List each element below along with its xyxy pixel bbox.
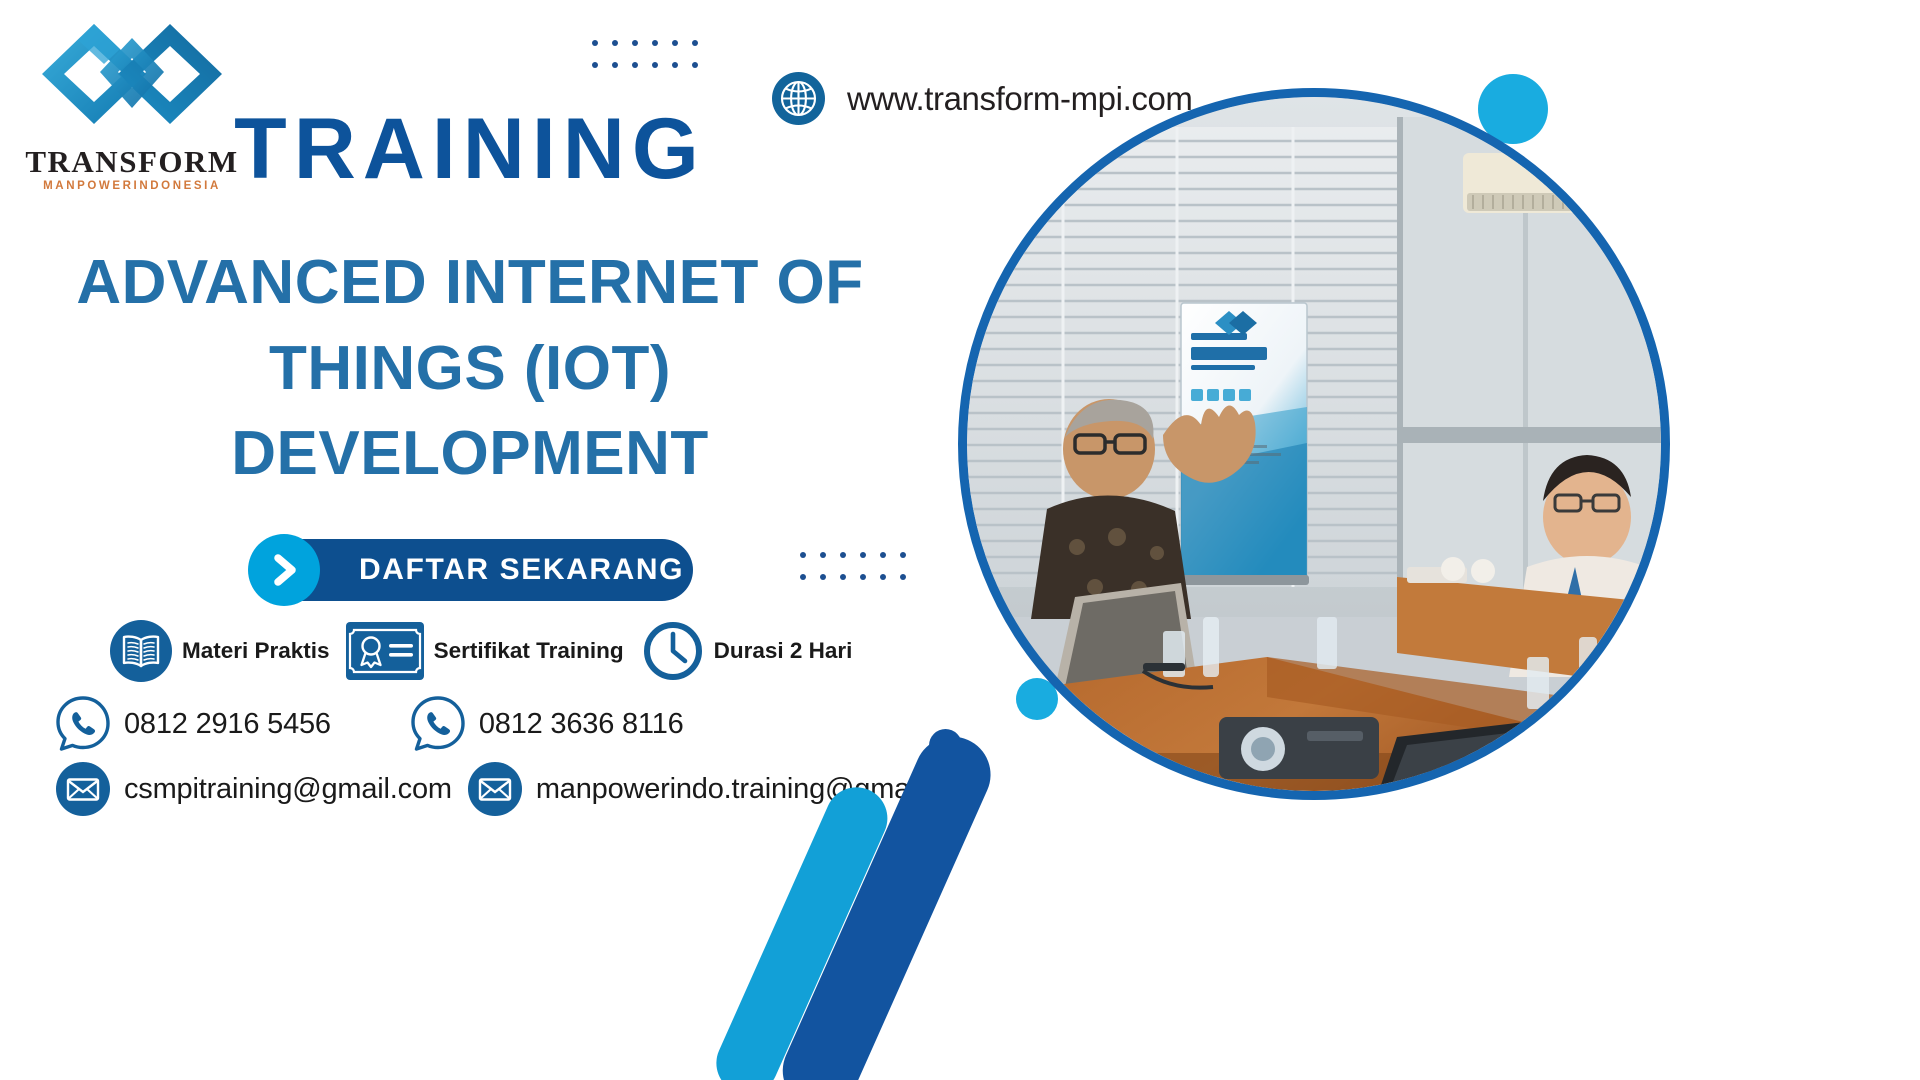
decorative-dot xyxy=(860,574,866,580)
course-title-heading: ADVANCED INTERNET OF THINGS (IOT) DEVELO… xyxy=(50,240,890,497)
decorative-dot xyxy=(672,40,678,46)
features-row: Materi Praktis Sertifikat Training Duras… xyxy=(110,620,852,682)
decorative-dot-grid-top xyxy=(592,40,702,80)
clock-icon xyxy=(642,620,704,682)
decorative-dot-grid-middle xyxy=(800,552,910,592)
decorative-dot xyxy=(692,62,698,68)
decorative-dot xyxy=(900,552,906,558)
phone-number: 0812 2916 5456 xyxy=(124,708,331,741)
feature-label: Durasi 2 Hari xyxy=(714,638,853,664)
decorative-navy-dot-small xyxy=(929,729,962,762)
training-session-photo xyxy=(958,88,1670,800)
decorative-dot xyxy=(820,574,826,580)
whatsapp-phone-icon xyxy=(409,695,467,753)
feature-label: Materi Praktis xyxy=(182,638,330,664)
decorative-dot xyxy=(820,552,826,558)
photo-inner xyxy=(967,97,1661,791)
training-kicker-heading: TRAINING xyxy=(0,106,940,192)
chevron-right-icon xyxy=(248,534,320,606)
decorative-dot xyxy=(592,40,598,46)
open-book-icon xyxy=(110,620,172,682)
phone-number: 0812 3636 8116 xyxy=(479,708,684,741)
decorative-dot xyxy=(880,552,886,558)
cta-label: DAFTAR SEKARANG xyxy=(359,553,684,587)
feature-materi-praktis: Materi Praktis xyxy=(110,620,330,682)
decorative-dot xyxy=(632,40,638,46)
decorative-dot xyxy=(612,40,618,46)
decorative-dot xyxy=(612,62,618,68)
decorative-dot xyxy=(800,552,806,558)
feature-label: Sertifikat Training xyxy=(434,638,624,664)
decorative-dot xyxy=(632,62,638,68)
phone-contact-2[interactable]: 0812 3636 8116 xyxy=(409,695,684,753)
daftar-sekarang-button[interactable]: DAFTAR SEKARANG xyxy=(253,539,693,601)
decorative-dot xyxy=(592,62,598,68)
decorative-dot xyxy=(860,552,866,558)
whatsapp-phone-icon xyxy=(54,695,112,753)
feature-durasi-2-hari: Durasi 2 Hari xyxy=(642,620,853,682)
email-contact-1[interactable]: csmpitraining@gmail.com xyxy=(54,760,452,818)
envelope-icon xyxy=(54,760,112,818)
decorative-dot xyxy=(652,62,658,68)
decorative-dot xyxy=(652,40,658,46)
decorative-dot xyxy=(840,552,846,558)
decorative-dot xyxy=(692,40,698,46)
decorative-dot xyxy=(840,574,846,580)
phone-contact-1[interactable]: 0812 2916 5456 xyxy=(54,695,331,753)
email-address: csmpitraining@gmail.com xyxy=(124,773,452,806)
decorative-dot xyxy=(800,574,806,580)
decorative-dot xyxy=(900,574,906,580)
phone-contacts-row: 0812 2916 5456 0812 3636 8116 xyxy=(54,695,684,753)
decorative-dot xyxy=(672,62,678,68)
envelope-icon xyxy=(466,760,524,818)
certificate-icon xyxy=(346,620,424,682)
decorative-dot xyxy=(880,574,886,580)
feature-sertifikat-training: Sertifikat Training xyxy=(346,620,624,682)
